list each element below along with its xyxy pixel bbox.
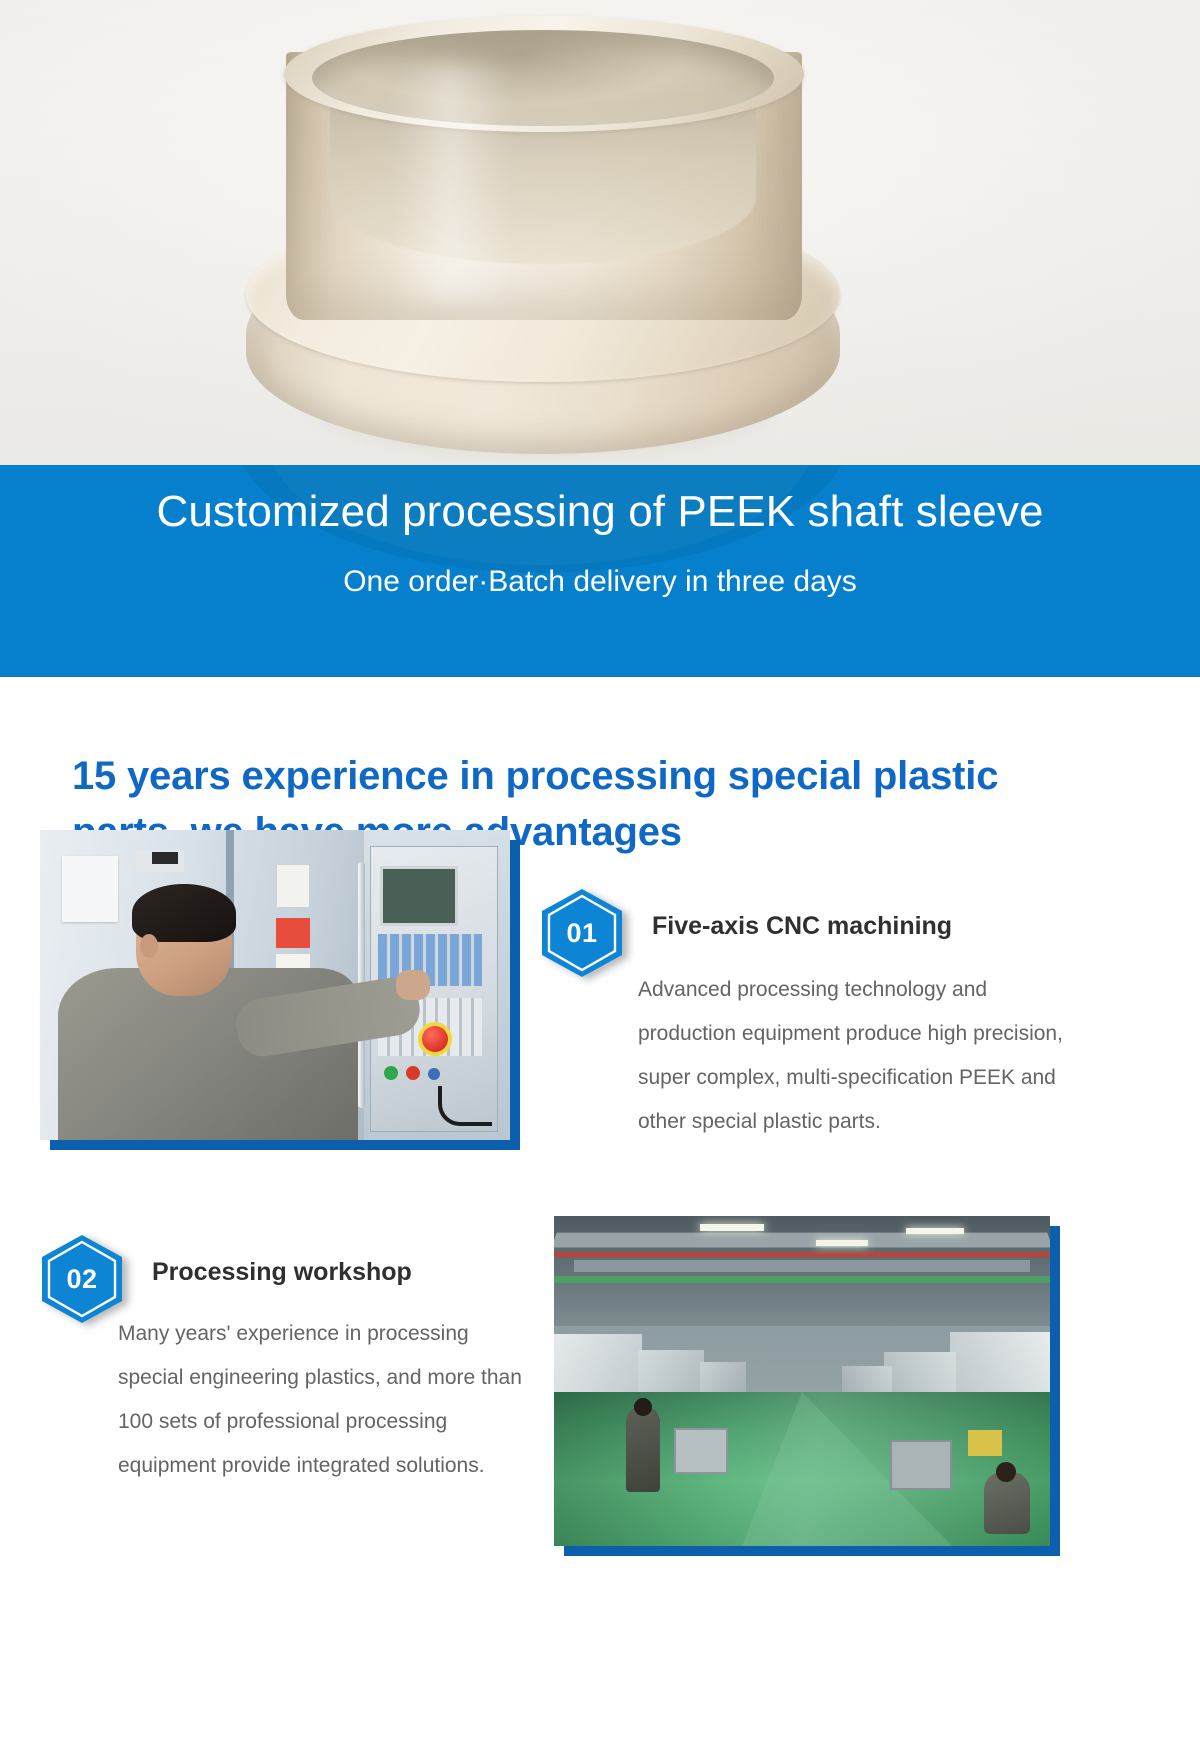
panel-button-blue — [428, 1068, 440, 1080]
ceiling-light-3 — [906, 1228, 964, 1234]
ceiling-light-1 — [700, 1224, 764, 1231]
workshop-cart-right — [890, 1440, 952, 1490]
warning-sticker-red — [276, 918, 310, 948]
cnc-display-screen — [380, 866, 458, 926]
feature-01-badge: 01 — [540, 888, 624, 978]
feature-02-number: 02 — [40, 1234, 124, 1324]
workshop-worker-1-head — [634, 1398, 652, 1416]
ceiling-duct-secondary — [574, 1260, 1030, 1272]
banner-subtitle: One order·Batch delivery in three days — [0, 565, 1200, 599]
workshop-worker-2-head — [996, 1462, 1016, 1482]
cabinet-black-label — [152, 852, 178, 864]
panel-button-green — [384, 1066, 398, 1080]
product-detail-page: Customized processing of PEEK shaft slee… — [0, 0, 1200, 1760]
ceiling-green-pipe — [554, 1276, 1050, 1283]
feature-01-number: 01 — [540, 888, 624, 978]
feature-02-photo — [554, 1216, 1050, 1546]
emergency-stop-button — [422, 1026, 448, 1052]
product-rim-inner — [312, 30, 774, 126]
banner-title: Customized processing of PEEK shaft slee… — [0, 487, 1200, 537]
feature-01-image — [40, 830, 510, 1140]
ceiling-duct-primary — [554, 1233, 1050, 1248]
warning-sticker-white — [276, 864, 310, 908]
hero-product-image — [0, 0, 1200, 470]
panel-button-red — [406, 1066, 420, 1080]
ceiling-red-pipe — [554, 1252, 1050, 1257]
worker-ear — [140, 934, 158, 958]
ceiling-light-2 — [816, 1240, 868, 1246]
workshop-worker-1 — [626, 1406, 660, 1492]
feature-02-image — [554, 1216, 1050, 1546]
product-specular-highlight — [392, 66, 510, 302]
cabinet-paper-sheet — [62, 856, 118, 922]
panel-cable — [438, 1086, 492, 1126]
feature-02-badge: 02 — [40, 1234, 124, 1324]
feature-01-body: Advanced processing technology and produ… — [638, 968, 1070, 1144]
workshop-cart-left — [674, 1428, 728, 1474]
feature-01-title: Five-axis CNC machining — [652, 912, 952, 941]
workshop-yellow-bin — [968, 1430, 1002, 1456]
promo-banner: Customized processing of PEEK shaft slee… — [0, 465, 1200, 677]
feature-02-body: Many years' experience in processing spe… — [118, 1312, 522, 1488]
feature-02-title: Processing workshop — [152, 1258, 412, 1287]
feature-01-photo — [40, 830, 510, 1140]
worker-hand — [396, 970, 430, 1000]
